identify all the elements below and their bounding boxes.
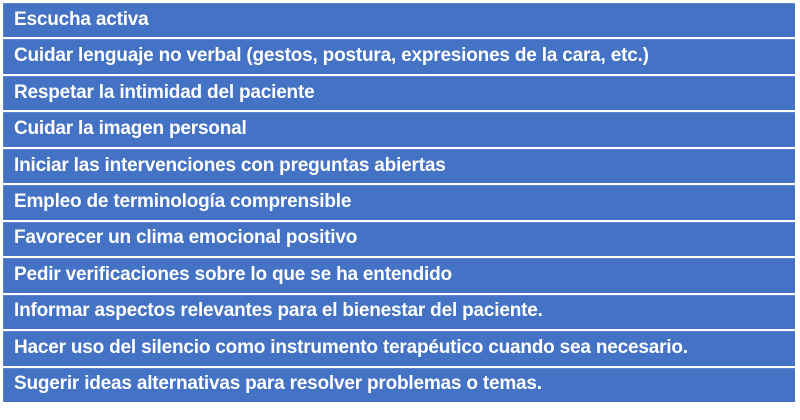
- list-item-label: Cuidar la imagen personal: [4, 119, 247, 141]
- list-item-label: Respetar la intimidad del paciente: [4, 83, 314, 105]
- list-item-label: Escucha activa: [4, 10, 149, 32]
- list-item-label: Empleo de terminología comprensible: [4, 192, 351, 214]
- list-item[interactable]: Pedir verificaciones sobre lo que se ha …: [3, 258, 795, 292]
- list-item-label: Favorecer un clima emocional positivo: [4, 228, 357, 250]
- list-item-label: Sugerir ideas alternativas para resolver…: [4, 374, 542, 396]
- list-item-label: Iniciar las intervenciones con preguntas…: [4, 156, 446, 178]
- list-item-label: Informar aspectos relevantes para el bie…: [4, 301, 543, 323]
- list-item[interactable]: Cuidar lenguaje no verbal (gestos, postu…: [3, 39, 795, 73]
- bullet-list: Escucha activa Cuidar lenguaje no verbal…: [3, 3, 795, 402]
- list-item[interactable]: Hacer uso del silencio como instrumento …: [3, 331, 795, 365]
- slide-canvas: Escucha activa Cuidar lenguaje no verbal…: [0, 0, 800, 420]
- list-item[interactable]: Empleo de terminología comprensible: [3, 185, 795, 219]
- list-item[interactable]: Cuidar la imagen personal: [3, 112, 795, 146]
- list-item[interactable]: Iniciar las intervenciones con preguntas…: [3, 149, 795, 183]
- list-item[interactable]: Escucha activa: [3, 3, 795, 37]
- list-item[interactable]: Respetar la intimidad del paciente: [3, 76, 795, 110]
- list-item[interactable]: Sugerir ideas alternativas para resolver…: [3, 368, 795, 402]
- list-item[interactable]: Informar aspectos relevantes para el bie…: [3, 295, 795, 329]
- list-item-label: Cuidar lenguaje no verbal (gestos, postu…: [4, 46, 649, 68]
- list-item-label: Hacer uso del silencio como instrumento …: [4, 338, 688, 360]
- list-item[interactable]: Favorecer un clima emocional positivo: [3, 222, 795, 256]
- list-item-label: Pedir verificaciones sobre lo que se ha …: [4, 265, 452, 287]
